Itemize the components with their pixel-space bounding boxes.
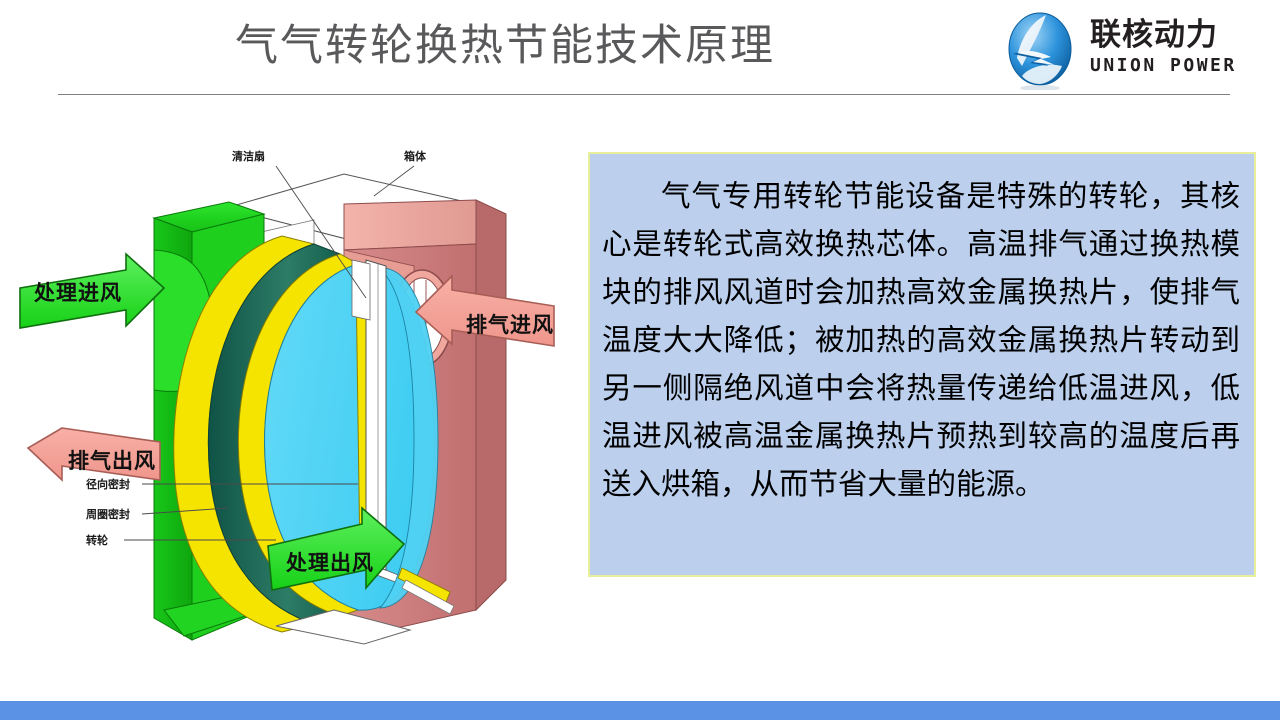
logo-text-block: 联核动力 UNION POWER (1090, 16, 1268, 78)
flow-arrow-exhaust-outlet: 排气出风 (28, 428, 160, 480)
page-title: 气气转轮换热节能技术原理 (0, 18, 1010, 74)
callout-label-rotor: 转轮 (86, 533, 108, 547)
callout-label-purge-fan: 清洁扇 (232, 149, 265, 163)
flow-label-exhaust-inlet: 排气进风 (466, 313, 554, 337)
description-paragraph: 气气专用转轮节能设备是特殊的转轮，其核心是转轮式高效换热芯体。高温排气通过换热模… (590, 154, 1254, 508)
description-box: 气气专用转轮节能设备是特殊的转轮，其核心是转轮式高效换热芯体。高温排气通过换热模… (588, 152, 1256, 577)
flow-label-exhaust-outlet: 排气出风 (68, 449, 156, 473)
callout-label-casing: 箱体 (404, 149, 427, 163)
flow-arrow-process-inlet: 处理进风 (20, 254, 164, 328)
callout-label-circumferential-seal: 周圈密封 (86, 507, 130, 521)
rotor-wheel (174, 236, 454, 644)
bottom-accent-bar (0, 701, 1280, 720)
flow-label-process-outlet: 处理出风 (285, 551, 374, 575)
union-power-globe-icon (1000, 10, 1080, 90)
rotary-heat-exchanger-diagram: 清洁扇 箱体 径向密封 周圈密封 转轮 处理进风 排气进风 (14, 140, 584, 670)
flow-label-process-inlet: 处理进风 (33, 281, 122, 305)
brand-logo: 联核动力 UNION POWER (1000, 8, 1268, 92)
header-divider (58, 94, 1230, 95)
logo-name-en: UNION POWER (1090, 54, 1268, 78)
diagram-canvas: 清洁扇 箱体 径向密封 周圈密封 转轮 处理进风 排气进风 (14, 140, 584, 670)
logo-name-cn: 联核动力 (1090, 16, 1268, 54)
callout-label-radial-seal: 径向密封 (86, 477, 130, 491)
